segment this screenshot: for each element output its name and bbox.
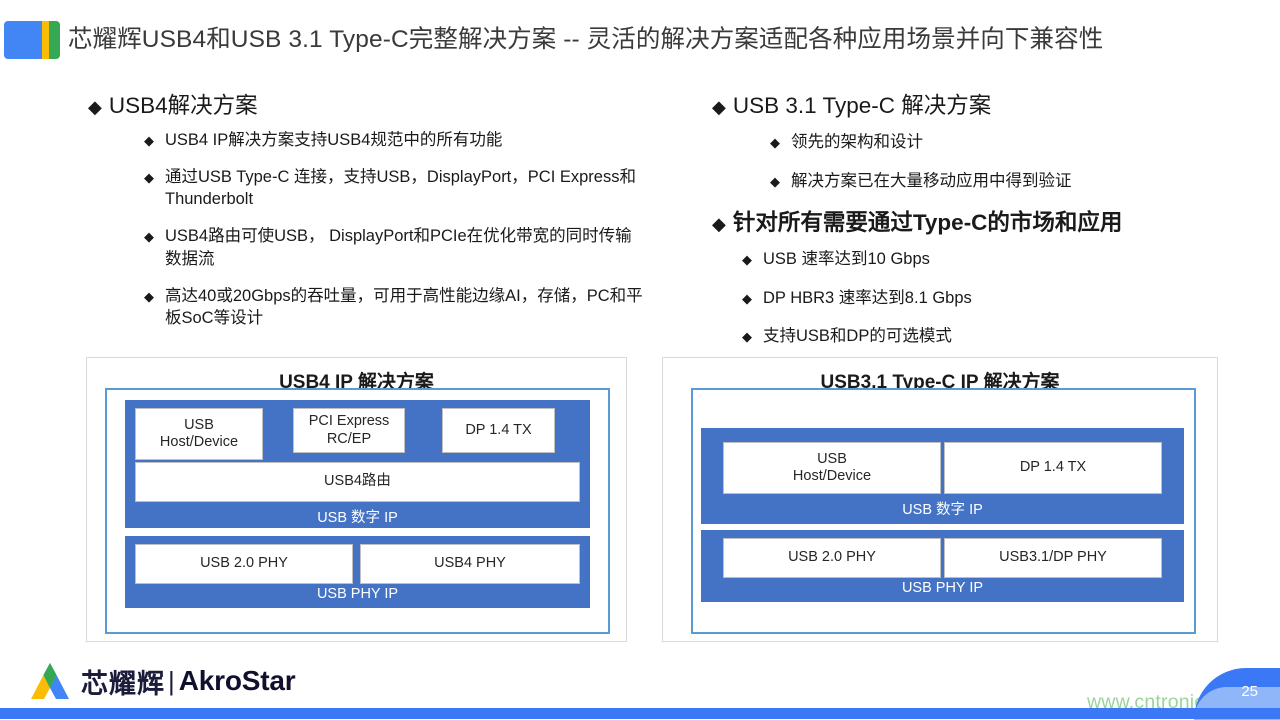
brand-separator: | [168, 666, 175, 697]
box-line-2: RC/EP [327, 431, 371, 447]
list-item: ◆ USB4路由可使USB， DisplayPort和PCIe在优化带宽的同时传… [144, 225, 648, 269]
left-heading: ◆ USB4解决方案 [88, 92, 648, 120]
list-item-label: USB4 IP解决方案支持USB4规范中的所有功能 [165, 129, 502, 151]
box-dp-14-tx: DP 1.4 TX [944, 442, 1162, 494]
list-item-label: 通过USB Type-C 连接，支持USB，DisplayPort，PCI Ex… [165, 166, 648, 210]
usb-phy-ip-label: USB PHY IP [125, 586, 590, 602]
list-item-label: 领先的架构和设计 [791, 131, 923, 153]
box-line-1: USB [817, 451, 847, 467]
diagram-card-usb31-typec: USB3.1 Type-C IP 解决方案 USB Host/Device DP… [662, 357, 1218, 642]
list-item: ◆ 解决方案已在大量移动应用中得到验证 [770, 170, 1232, 192]
page-title: 芯耀辉USB4和USB 3.1 Type-C完整解决方案 -- 灵活的解决方案适… [68, 17, 1103, 63]
box-usb-20-phy: USB 2.0 PHY [723, 538, 941, 578]
usb-phy-ip-band: USB 2.0 PHY USB3.1/DP PHY USB PHY IP [701, 530, 1184, 602]
usb-digital-ip-band: USB Host/Device DP 1.4 TX USB 数字 IP [701, 428, 1184, 524]
left-bullet-column: ◆ USB4解决方案 ◆ USB4 IP解决方案支持USB4规范中的所有功能 ◆… [88, 92, 648, 344]
box-line-2: Host/Device [793, 468, 871, 484]
header-logo-icon [4, 21, 60, 59]
diamond-bullet-icon: ◆ [712, 98, 726, 116]
box-dp-14-tx: DP 1.4 TX [442, 408, 555, 453]
left-heading-label: USB4解决方案 [109, 92, 258, 120]
diagram-right-frame: USB Host/Device DP 1.4 TX USB 数字 IP USB … [691, 388, 1196, 634]
diamond-bullet-icon: ◆ [144, 290, 154, 303]
footer-bar [0, 708, 1280, 719]
brand-cn-label: 芯耀辉 [81, 662, 165, 701]
list-item-label: 高达40或20Gbps的吞吐量，可用于高性能边缘AI，存储，PC和平板SoC等设… [165, 285, 648, 329]
list-item: ◆ 领先的架构和设计 [770, 131, 1232, 153]
usb-phy-ip-band: USB 2.0 PHY USB4 PHY USB PHY IP [125, 536, 590, 608]
box-usb4-router: USB4路由 [135, 462, 580, 502]
list-item: ◆ USB4 IP解决方案支持USB4规范中的所有功能 [144, 129, 648, 151]
list-item: ◆ 支持USB和DP的可选模式 [742, 325, 1232, 347]
box-usb-host-device: USB Host/Device [723, 442, 941, 494]
diamond-bullet-icon: ◆ [144, 230, 154, 243]
usb-digital-ip-band: USB Host/Device PCI Express RC/EP DP 1.4… [125, 400, 590, 528]
right-heading-1-label: USB 3.1 Type-C 解决方案 [733, 92, 991, 120]
diamond-bullet-icon: ◆ [770, 136, 780, 149]
list-item: ◆ USB 速率达到10 Gbps [742, 248, 1232, 270]
box-usb31-dp-phy: USB3.1/DP PHY [944, 538, 1162, 578]
brand-en-label: AkroStar [179, 665, 296, 697]
footer-brand: 芯耀辉 | AkroStar [28, 661, 295, 701]
box-line-2: Host/Device [160, 434, 238, 450]
akrostar-logo-icon [28, 661, 72, 701]
list-item-label: 解决方案已在大量移动应用中得到验证 [791, 170, 1072, 192]
list-item-label: USB4路由可使USB， DisplayPort和PCIe在优化带宽的同时传输数… [165, 225, 648, 269]
logo-green-stripe [49, 21, 60, 59]
slide-header: 芯耀辉USB4和USB 3.1 Type-C完整解决方案 -- 灵活的解决方案适… [0, 17, 1280, 63]
right-heading-1: ◆ USB 3.1 Type-C 解决方案 [712, 92, 1232, 120]
list-item: ◆ 高达40或20Gbps的吞吐量，可用于高性能边缘AI，存储，PC和平板SoC… [144, 285, 648, 329]
right-heading-2: ◆ 针对所有需要通过Type-C的市场和应用 [712, 209, 1232, 237]
diamond-bullet-icon: ◆ [144, 171, 154, 184]
diamond-bullet-icon: ◆ [88, 98, 102, 116]
diamond-bullet-icon: ◆ [742, 330, 752, 343]
box-usb4-phy: USB4 PHY [360, 544, 580, 584]
diamond-bullet-icon: ◆ [770, 175, 780, 188]
usb-digital-ip-label: USB 数字 IP [125, 506, 590, 527]
list-item-label: USB 速率达到10 Gbps [763, 248, 930, 270]
right-bullet-column: ◆ USB 3.1 Type-C 解决方案 ◆ 领先的架构和设计 ◆ 解决方案已… [712, 92, 1232, 363]
diamond-bullet-icon: ◆ [742, 253, 752, 266]
diamond-bullet-icon: ◆ [144, 134, 154, 147]
box-line-1: PCI Express [309, 413, 390, 429]
list-item-label: 支持USB和DP的可选模式 [763, 325, 952, 347]
list-item: ◆ 通过USB Type-C 连接，支持USB，DisplayPort，PCI … [144, 166, 648, 210]
diagram-card-usb4: USB4 IP 解决方案 USB Host/Device PCI Express… [86, 357, 627, 642]
logo-yellow-stripe [42, 21, 49, 59]
usb-phy-ip-label: USB PHY IP [701, 580, 1184, 596]
diamond-bullet-icon: ◆ [742, 292, 752, 305]
box-line-1: USB [184, 417, 214, 433]
box-usb-20-phy: USB 2.0 PHY [135, 544, 353, 584]
right-heading-2-label: 针对所有需要通过Type-C的市场和应用 [733, 209, 1123, 237]
page-number: 25 [1241, 683, 1258, 700]
list-item: ◆ DP HBR3 速率达到8.1 Gbps [742, 287, 1232, 309]
box-pci-express: PCI Express RC/EP [293, 408, 405, 453]
list-item-label: DP HBR3 速率达到8.1 Gbps [763, 287, 972, 309]
diagram-left-frame: USB Host/Device PCI Express RC/EP DP 1.4… [105, 388, 610, 634]
box-usb-host-device: USB Host/Device [135, 408, 263, 460]
logo-blue-block [4, 21, 42, 59]
diamond-bullet-icon: ◆ [712, 215, 726, 233]
usb-digital-ip-label: USB 数字 IP [701, 498, 1184, 519]
slide-root: 芯耀辉USB4和USB 3.1 Type-C完整解决方案 -- 灵活的解决方案适… [0, 0, 1280, 720]
